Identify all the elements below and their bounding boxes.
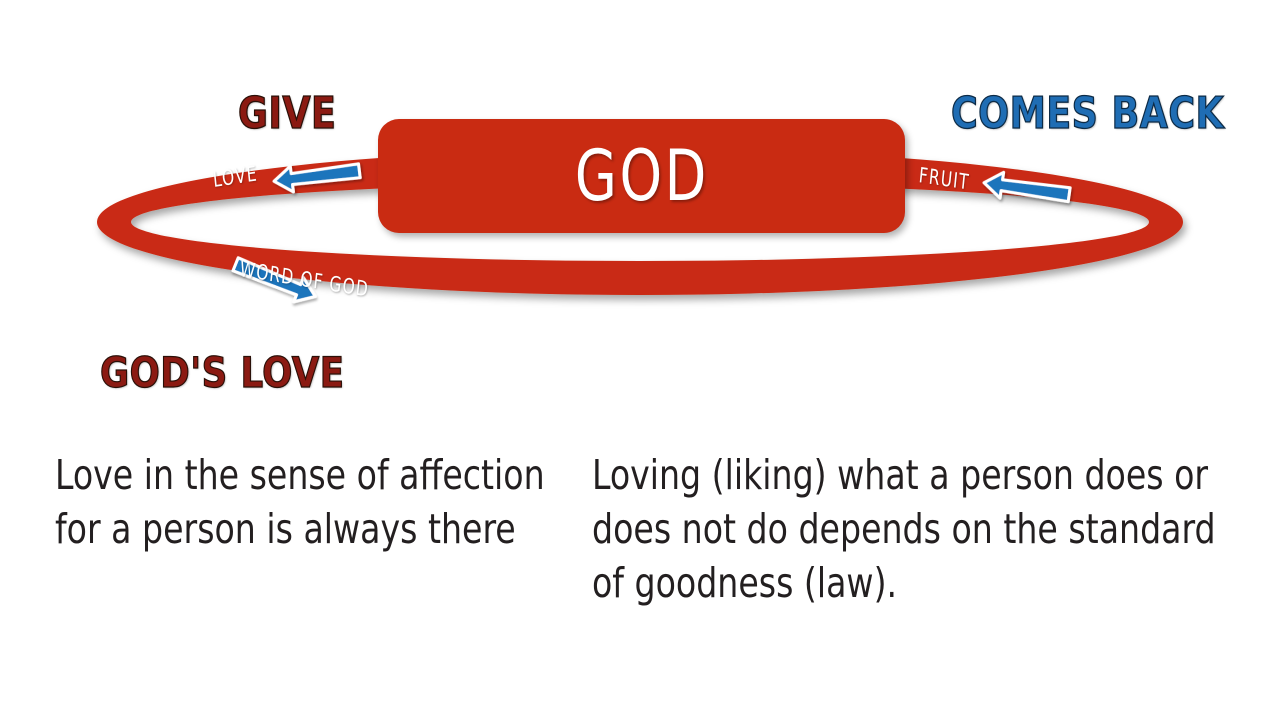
god-center-box: GOD <box>378 119 905 233</box>
arc-heading-comes-back: COMES BACK <box>951 92 1224 136</box>
body-paragraph-left: Love in the sense of affection for a per… <box>55 448 559 556</box>
god-box-label: GOD <box>574 141 708 211</box>
body-text-columns: Love in the sense of affection for a per… <box>0 448 1280 668</box>
slide-canvas: GOD LOVE WORD OF GOD FRUIT GIVE COMES BA… <box>0 0 1280 720</box>
arc-heading-give: GIVE <box>238 92 336 136</box>
body-paragraph-right: Loving (liking) what a person does or do… <box>592 448 1222 610</box>
section-heading-gods-love: GOD'S LOVE <box>100 352 344 394</box>
